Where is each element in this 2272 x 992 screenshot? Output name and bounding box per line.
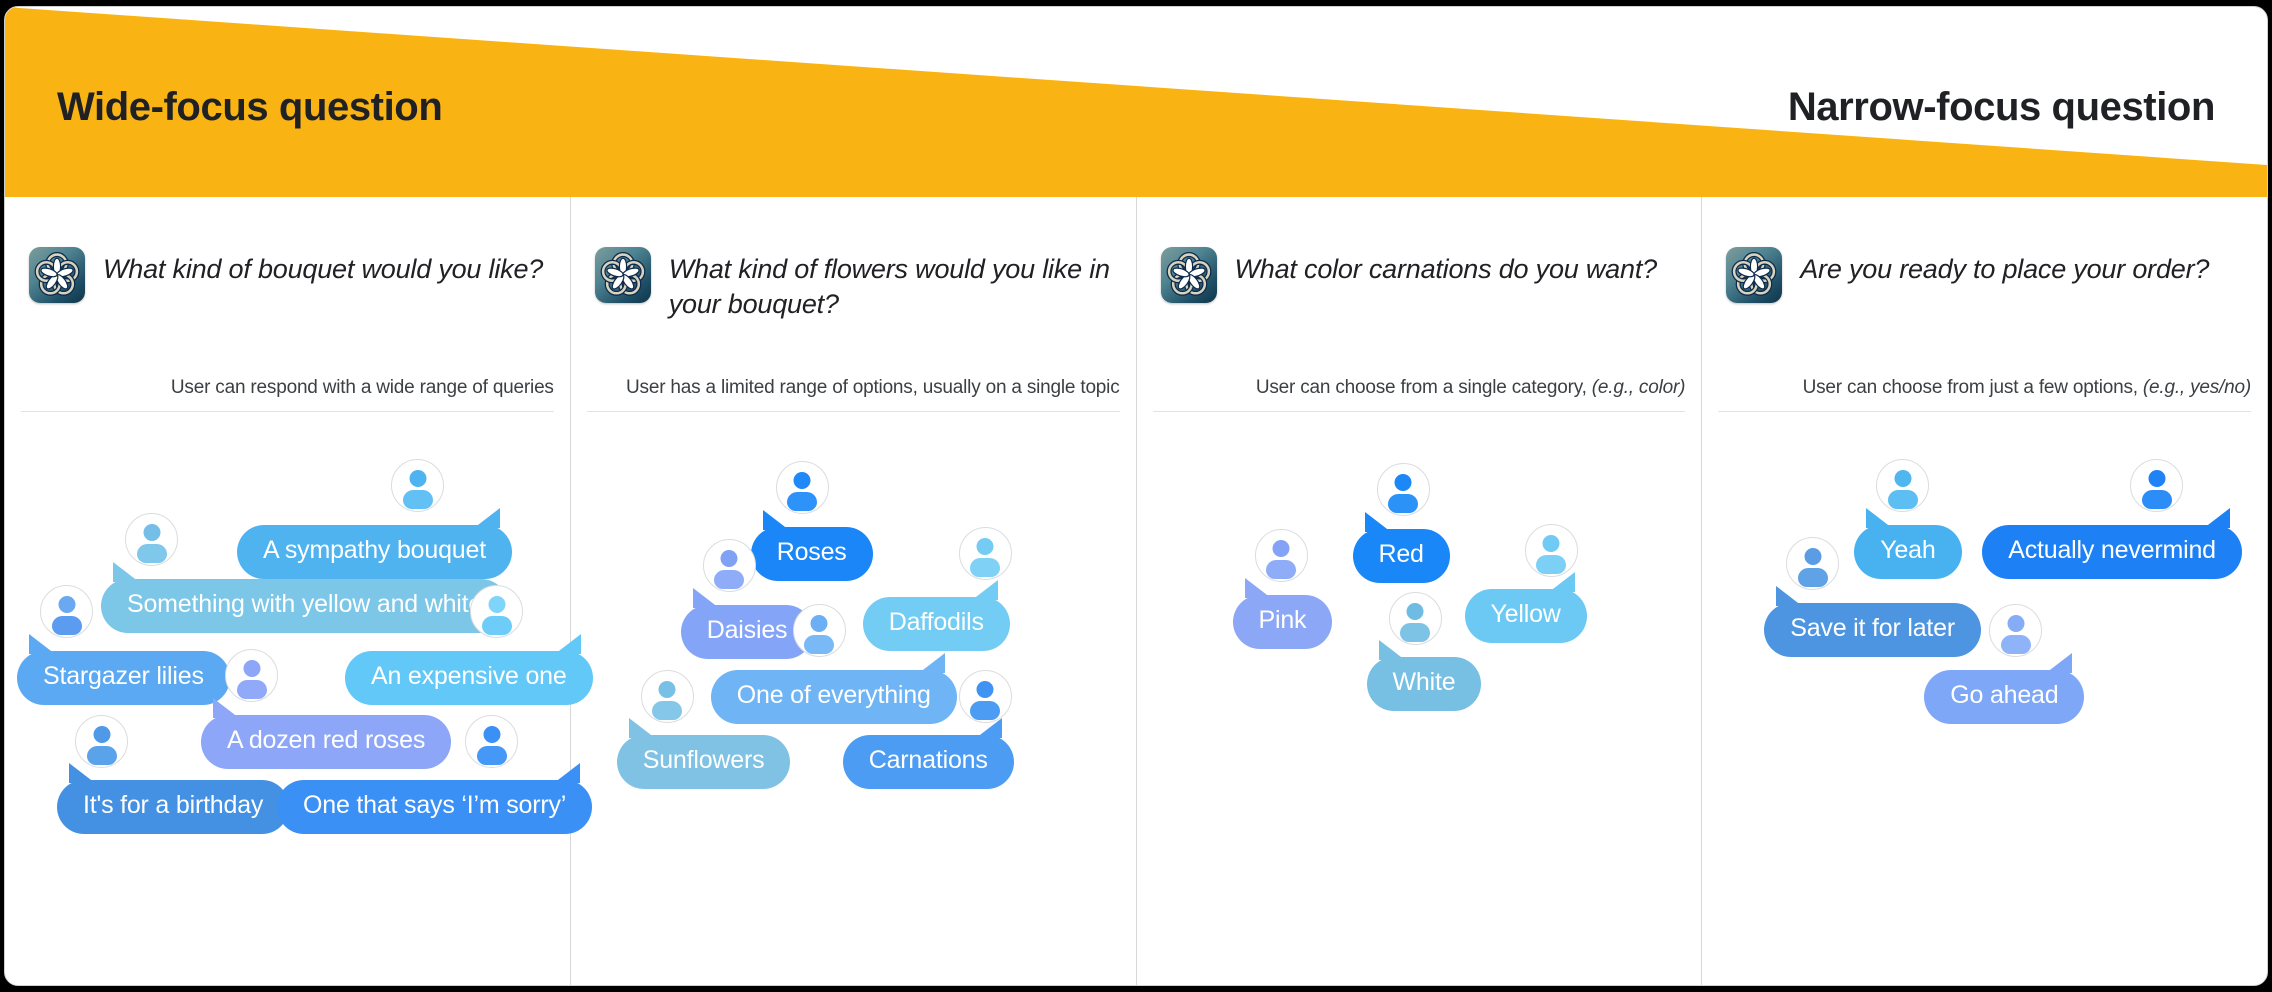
response-bubble[interactable]: Go ahead <box>1924 670 2084 724</box>
response-bubble[interactable]: Carnations <box>843 735 1014 789</box>
caption-divider: User can respond with a wide range of qu… <box>21 377 554 412</box>
response-cluster: RosesDaisiesDaffodilsOne of everythingSu… <box>571 427 1136 897</box>
user-avatar-icon <box>1525 524 1578 577</box>
column-caption: User can choose from a single category, … <box>1256 377 1685 398</box>
caption-divider: User can choose from a single category, … <box>1153 377 1686 412</box>
narrow-focus-label: Narrow-focus question <box>1788 85 2215 130</box>
avatar-head <box>483 726 500 743</box>
response-bubble[interactable]: Pink <box>1233 595 1333 649</box>
avatar-head <box>1273 540 1290 557</box>
response-bubble[interactable]: Save it for later <box>1764 603 1981 657</box>
response-bubble[interactable]: Red <box>1353 529 1450 583</box>
response-bubble[interactable]: Yellow <box>1465 589 1587 643</box>
avatar-body <box>52 616 82 635</box>
avatar-body <box>237 680 267 699</box>
avatar-head <box>1543 535 1560 552</box>
caption-example: (e.g., color) <box>1592 377 1686 398</box>
avatar-head <box>1407 603 1424 620</box>
response-bubble[interactable]: Roses <box>751 527 873 581</box>
response-bubble[interactable]: A sympathy bouquet <box>237 525 512 579</box>
avatar-body <box>787 492 817 511</box>
header-band: Wide-focus question Narrow-focus questio… <box>5 7 2267 197</box>
flower-logo-icon <box>595 247 651 303</box>
user-avatar-icon <box>776 461 829 514</box>
avatar-head <box>811 615 828 632</box>
agent-question-text: Are you ready to place your order? <box>1800 247 2209 287</box>
user-avatar-icon <box>1389 592 1442 645</box>
avatar-head <box>2007 615 2024 632</box>
flower-logo-icon <box>1726 247 1782 303</box>
user-avatar-icon <box>1876 459 1929 512</box>
avatar-head <box>1894 470 1911 487</box>
user-avatar-icon <box>641 670 694 723</box>
user-avatar-icon <box>125 513 178 566</box>
column-container: What kind of bouquet would you like?User… <box>5 197 2267 986</box>
avatar-head <box>243 660 260 677</box>
avatar-head <box>488 596 505 613</box>
response-bubble[interactable]: It's for a birthday <box>57 780 289 834</box>
response-bubble[interactable]: A dozen red roses <box>201 715 451 769</box>
question-row: What kind of flowers would you like in y… <box>595 247 1112 321</box>
agent-question-text: What kind of flowers would you like in y… <box>669 247 1112 321</box>
avatar-body <box>652 701 682 720</box>
avatar-head <box>2148 470 2165 487</box>
avatar-body <box>403 490 433 509</box>
column-caption: User can respond with a wide range of qu… <box>171 377 554 398</box>
user-avatar-icon <box>40 585 93 638</box>
response-cluster: YeahActually nevermindSave it for laterG… <box>1702 427 2267 897</box>
user-avatar-icon <box>225 649 278 702</box>
user-avatar-icon <box>75 715 128 768</box>
caption-divider: User can choose from just a few options,… <box>1718 377 2251 412</box>
user-avatar-icon <box>959 527 1012 580</box>
avatar-body <box>970 558 1000 577</box>
column-single-category: What color carnations do you want?User c… <box>1137 197 1703 986</box>
avatar-head <box>58 596 75 613</box>
user-avatar-icon <box>465 715 518 768</box>
column-few-options: Are you ready to place your order?User c… <box>1702 197 2267 986</box>
response-bubble[interactable]: White <box>1367 657 1482 711</box>
flower-logo-icon <box>595 247 651 303</box>
avatar-body <box>482 616 512 635</box>
user-avatar-icon <box>2130 459 2183 512</box>
avatar-head <box>659 681 676 698</box>
response-bubble[interactable]: Stargazer lilies <box>17 651 230 705</box>
question-row: What color carnations do you want? <box>1161 247 1678 303</box>
response-bubble[interactable]: An expensive one <box>345 651 593 705</box>
response-bubble[interactable]: One of everything <box>711 670 957 724</box>
column-wide-focus: What kind of bouquet would you like?User… <box>5 197 571 986</box>
avatar-head <box>977 538 994 555</box>
avatar-head <box>409 470 426 487</box>
avatar-body <box>2142 490 2172 509</box>
avatar-body <box>477 746 507 765</box>
user-avatar-icon <box>391 459 444 512</box>
response-cluster: A sympathy bouquetSomething with yellow … <box>5 427 570 897</box>
avatar-body <box>2001 635 2031 654</box>
avatar-body <box>137 544 167 563</box>
flower-logo-icon <box>29 247 85 303</box>
avatar-head <box>143 524 160 541</box>
avatar-head <box>977 681 994 698</box>
avatar-body <box>714 570 744 589</box>
wide-focus-label: Wide-focus question <box>57 85 442 130</box>
user-avatar-icon <box>703 539 756 592</box>
response-bubble[interactable]: Daffodils <box>863 597 1010 651</box>
question-row: Are you ready to place your order? <box>1726 247 2243 303</box>
flower-logo-icon <box>29 247 85 303</box>
user-avatar-icon <box>1255 529 1308 582</box>
user-avatar-icon <box>1989 604 2042 657</box>
user-avatar-icon <box>1377 463 1430 516</box>
column-limited-options: What kind of flowers would you like in y… <box>571 197 1137 986</box>
response-bubble[interactable]: Actually nevermind <box>1982 525 2242 579</box>
agent-question-text: What color carnations do you want? <box>1235 247 1657 287</box>
caption-example: (e.g., yes/no) <box>2143 377 2251 398</box>
flower-logo-icon <box>1726 247 1782 303</box>
column-caption: User can choose from just a few options,… <box>1803 377 2251 398</box>
caption-divider: User has a limited range of options, usu… <box>587 377 1120 412</box>
user-avatar-icon <box>1786 537 1839 590</box>
avatar-head <box>1804 548 1821 565</box>
avatar-head <box>721 550 738 567</box>
response-bubble[interactable]: Something with yellow and white <box>101 579 508 633</box>
response-cluster: RedPinkYellowWhite <box>1137 427 1702 897</box>
avatar-head <box>794 472 811 489</box>
user-avatar-icon <box>959 670 1012 723</box>
user-avatar-icon <box>793 604 846 657</box>
avatar-head <box>93 726 110 743</box>
agent-question-text: What kind of bouquet would you like? <box>103 247 543 287</box>
avatar-body <box>1266 560 1296 579</box>
response-bubble[interactable]: Sunflowers <box>617 735 791 789</box>
avatar-body <box>1400 623 1430 642</box>
question-row: What kind of bouquet would you like? <box>29 247 546 303</box>
avatar-head <box>1395 474 1412 491</box>
flower-logo-icon <box>1161 247 1217 303</box>
diagram-card: Wide-focus question Narrow-focus questio… <box>4 6 2268 986</box>
avatar-body <box>1388 494 1418 513</box>
response-bubble[interactable]: Yeah <box>1854 525 1961 579</box>
flower-logo-icon <box>1161 247 1217 303</box>
avatar-body <box>1798 568 1828 587</box>
column-caption: User has a limited range of options, usu… <box>626 377 1120 398</box>
response-bubble[interactable]: One that says ‘I’m sorry’ <box>277 780 592 834</box>
avatar-body <box>1888 490 1918 509</box>
avatar-body <box>804 635 834 654</box>
user-avatar-icon <box>470 585 523 638</box>
